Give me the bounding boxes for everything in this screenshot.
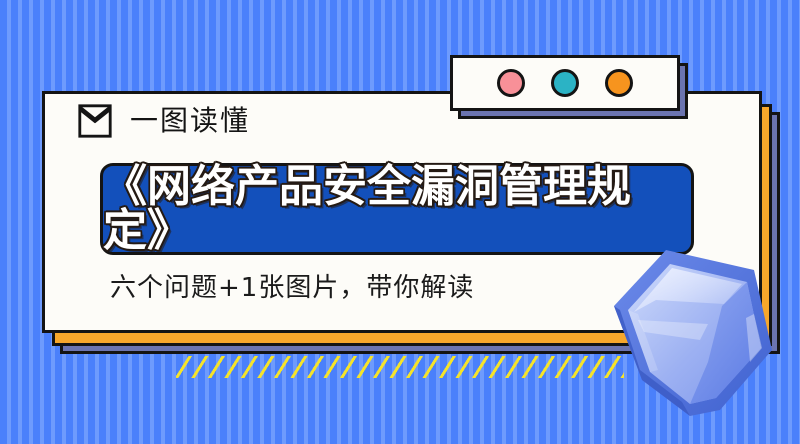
subtitle: 六个问题+1张图片，带你解读: [110, 275, 474, 301]
envelope-icon: [76, 102, 114, 140]
eyebrow: 一图读懂: [76, 102, 250, 140]
page-title: 《网络产品安全漏洞管理规定》: [103, 165, 691, 253]
poster-canvas: 一图读懂 《网络产品安全漏洞管理规定》 六个问题+1张图片，带你解读: [0, 0, 800, 444]
hatch-decoration: [176, 356, 624, 378]
title-banner: 《网络产品安全漏洞管理规定》: [100, 163, 694, 255]
eyebrow-label: 一图读懂: [130, 107, 250, 135]
